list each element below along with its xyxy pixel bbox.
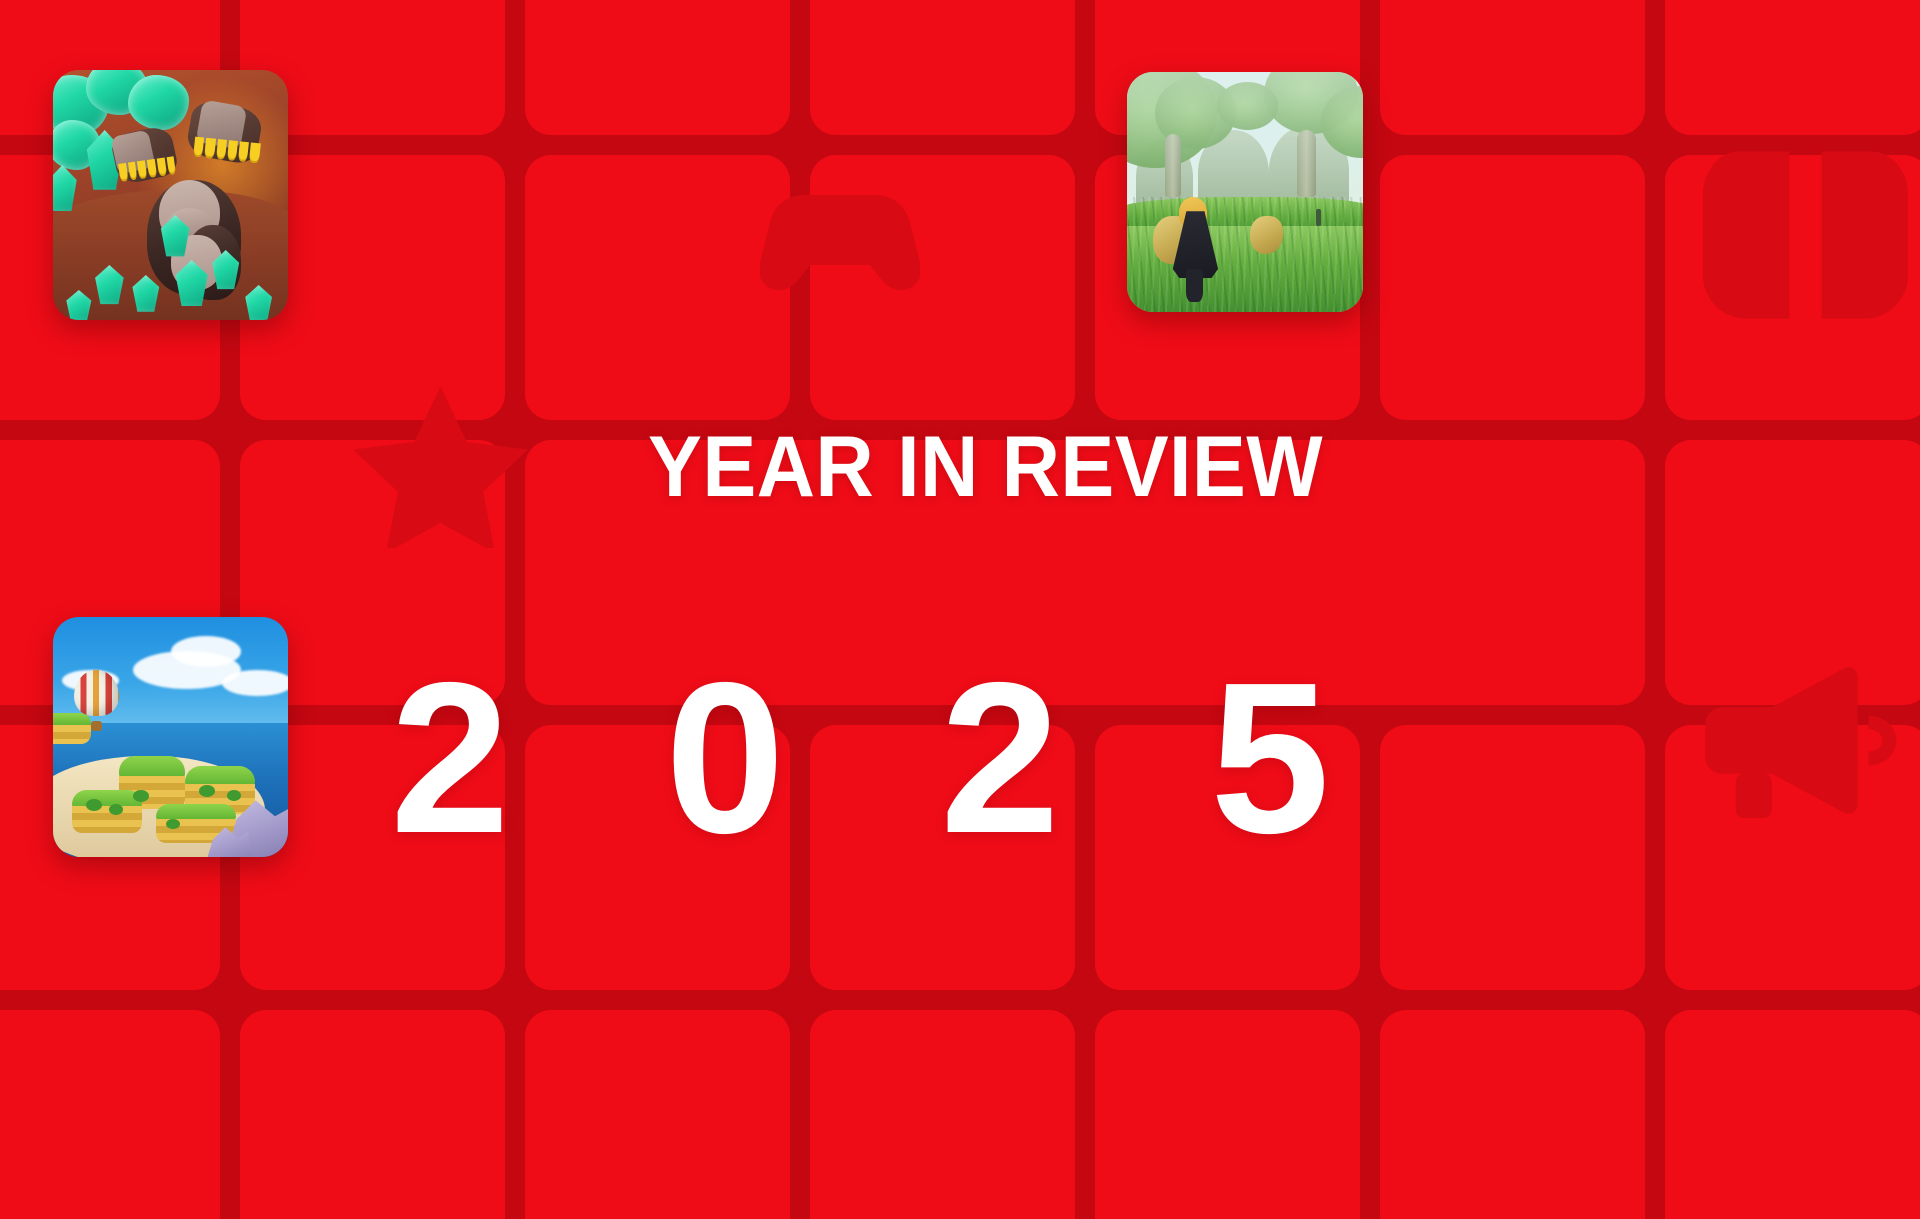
grid-tile (1380, 155, 1645, 420)
grid-tile (1095, 1010, 1360, 1219)
year-in-review-hero: YEAR IN REVIEW 2 0 2 5 (0, 0, 1920, 1219)
grid-tile (525, 155, 790, 420)
grid-tile (525, 1010, 790, 1219)
grid-tile (1380, 0, 1645, 135)
grid-tile (810, 0, 1075, 135)
grid-tile (525, 0, 790, 135)
page-title: YEAR IN REVIEW (648, 424, 1323, 510)
grid-tile (1665, 725, 1920, 990)
grid-tile (1665, 0, 1920, 135)
grid-tile (240, 1010, 505, 1219)
year-digit-1: 2 (370, 650, 530, 865)
grid-tile (1665, 440, 1920, 705)
game-tile-mario[interactable] (53, 617, 288, 857)
grid-tile (0, 1010, 220, 1219)
grid-tile (810, 1010, 1075, 1219)
grid-tile (1665, 155, 1920, 420)
grid-tile (810, 155, 1075, 420)
year-digit-2: 0 (645, 650, 805, 865)
grid-tile (1380, 725, 1645, 990)
year-digit-3: 2 (920, 650, 1080, 865)
year-digit-4: 5 (1190, 650, 1350, 865)
grid-tile (1380, 1010, 1645, 1219)
game-tile-zelda[interactable] (1127, 72, 1363, 312)
grid-tile (1665, 1010, 1920, 1219)
game-tile-donkey-kong[interactable] (53, 70, 288, 320)
